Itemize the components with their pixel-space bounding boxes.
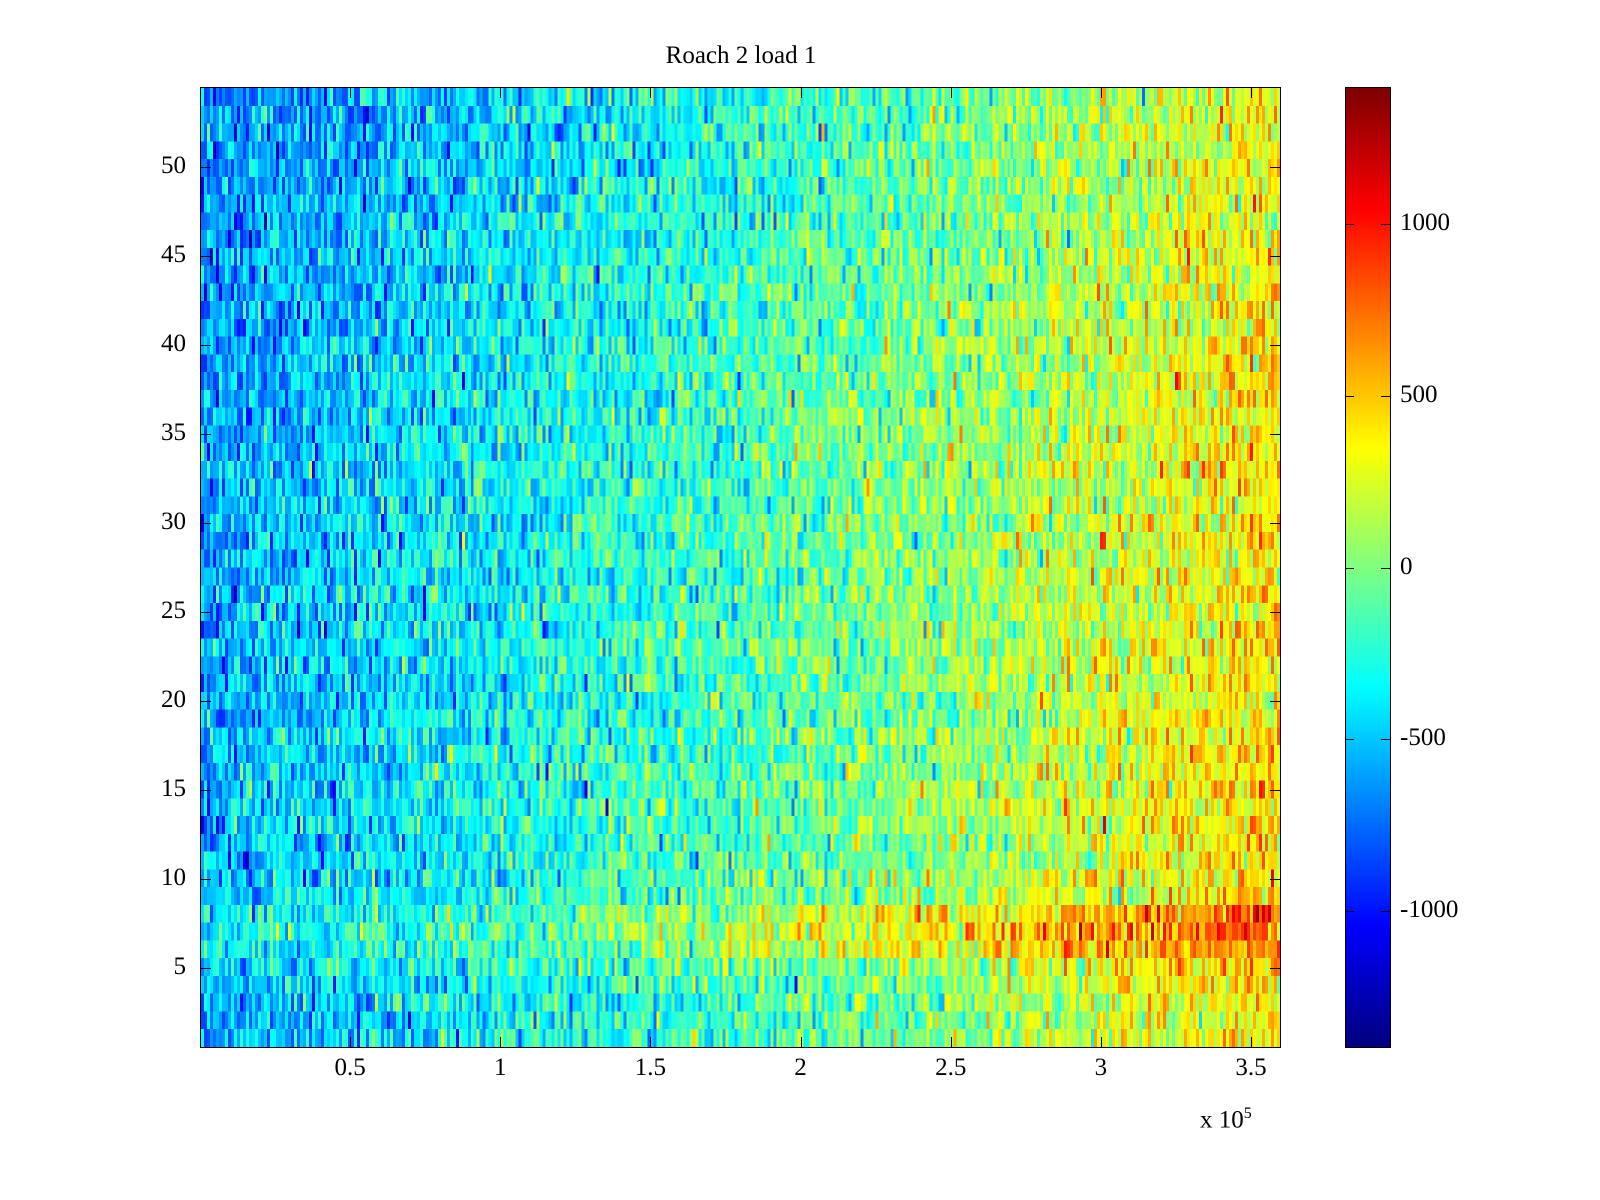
x-axis-tick <box>650 1037 651 1048</box>
y-axis-tick <box>200 523 211 524</box>
y-axis-tick-right <box>1270 523 1281 524</box>
y-axis-tick <box>200 879 211 880</box>
heatmap-image[interactable] <box>201 88 1280 1047</box>
colorbar-tick-label: 1000 <box>1400 210 1450 235</box>
y-axis-tick <box>200 790 211 791</box>
x-axis-tick-label: 3 <box>1041 1055 1161 1080</box>
colorbar-tick-label: -500 <box>1400 725 1446 750</box>
y-axis-tick <box>200 612 211 613</box>
colorbar-tick-label: 0 <box>1400 554 1413 579</box>
x-axis-tick-top <box>951 87 952 98</box>
y-axis-tick <box>200 701 211 702</box>
colorbar-tick-right <box>1381 739 1390 740</box>
x-axis-exponent-power: 5 <box>1244 1105 1252 1122</box>
figure-title: Roach 2 load 1 <box>200 42 1282 70</box>
x-axis-tick <box>350 1037 351 1048</box>
y-axis-tick <box>200 434 211 435</box>
y-axis-tick-right <box>1270 879 1281 880</box>
y-axis-tick-label: 25 <box>106 598 186 623</box>
y-axis-tick-label: 40 <box>106 331 186 356</box>
colorbar-tick <box>1345 224 1354 225</box>
y-axis-tick-label: 15 <box>106 776 186 801</box>
colorbar-tick-label: -1000 <box>1400 897 1458 922</box>
y-axis-tick <box>200 345 211 346</box>
colorbar-tick-label: 500 <box>1400 382 1438 407</box>
x-axis-exponent-label: x 105 <box>1200 1105 1252 1134</box>
y-axis-tick-label: 5 <box>106 954 186 979</box>
x-axis-tick <box>500 1037 501 1048</box>
colorbar-tick-right <box>1381 568 1390 569</box>
y-axis-tick-label: 50 <box>106 153 186 178</box>
y-axis-tick-label: 45 <box>106 242 186 267</box>
y-axis-tick-right <box>1270 256 1281 257</box>
x-axis-tick <box>951 1037 952 1048</box>
x-axis-tick <box>801 1037 802 1048</box>
y-axis-tick-right <box>1270 701 1281 702</box>
heatmap-axes[interactable] <box>200 87 1281 1048</box>
colorbar-tick <box>1345 396 1354 397</box>
colorbar-tick <box>1345 568 1354 569</box>
y-axis-tick-label: 20 <box>106 687 186 712</box>
x-axis-tick-top <box>650 87 651 98</box>
x-axis-tick-label: 1.5 <box>590 1055 710 1080</box>
y-axis-tick-right <box>1270 345 1281 346</box>
y-axis-tick-right <box>1270 167 1281 168</box>
x-axis-tick-label: 2 <box>741 1055 861 1080</box>
colorbar-tick <box>1345 911 1354 912</box>
y-axis-tick-label: 10 <box>106 865 186 890</box>
y-axis-tick-right <box>1270 612 1281 613</box>
x-axis-exponent-mantissa: x 10 <box>1200 1106 1244 1133</box>
y-axis-tick-right <box>1270 968 1281 969</box>
x-axis-tick-label: 2.5 <box>891 1055 1011 1080</box>
x-axis-tick <box>1101 1037 1102 1048</box>
y-axis-tick <box>200 256 211 257</box>
y-axis-tick <box>200 968 211 969</box>
colorbar-tick-right <box>1381 396 1390 397</box>
colorbar-tick-right <box>1381 911 1390 912</box>
x-axis-tick-label: 1 <box>440 1055 560 1080</box>
y-axis-tick-label: 30 <box>106 509 186 534</box>
y-axis-tick-right <box>1270 790 1281 791</box>
x-axis-tick-label: 0.5 <box>290 1055 410 1080</box>
x-axis-tick <box>1251 1037 1252 1048</box>
colorbar-tick-right <box>1381 224 1390 225</box>
colorbar-tick <box>1345 739 1354 740</box>
x-axis-tick-top <box>1101 87 1102 98</box>
y-axis-tick <box>200 167 211 168</box>
y-axis-tick-label: 35 <box>106 420 186 445</box>
y-axis-tick-right <box>1270 434 1281 435</box>
matlab-figure-window: Roach 2 load 1 x 105 5101520253035404550… <box>0 0 1600 1200</box>
x-axis-tick-label: 3.5 <box>1191 1055 1311 1080</box>
x-axis-tick-top <box>1251 87 1252 98</box>
x-axis-tick-top <box>350 87 351 98</box>
x-axis-tick-top <box>500 87 501 98</box>
x-axis-tick-top <box>801 87 802 98</box>
